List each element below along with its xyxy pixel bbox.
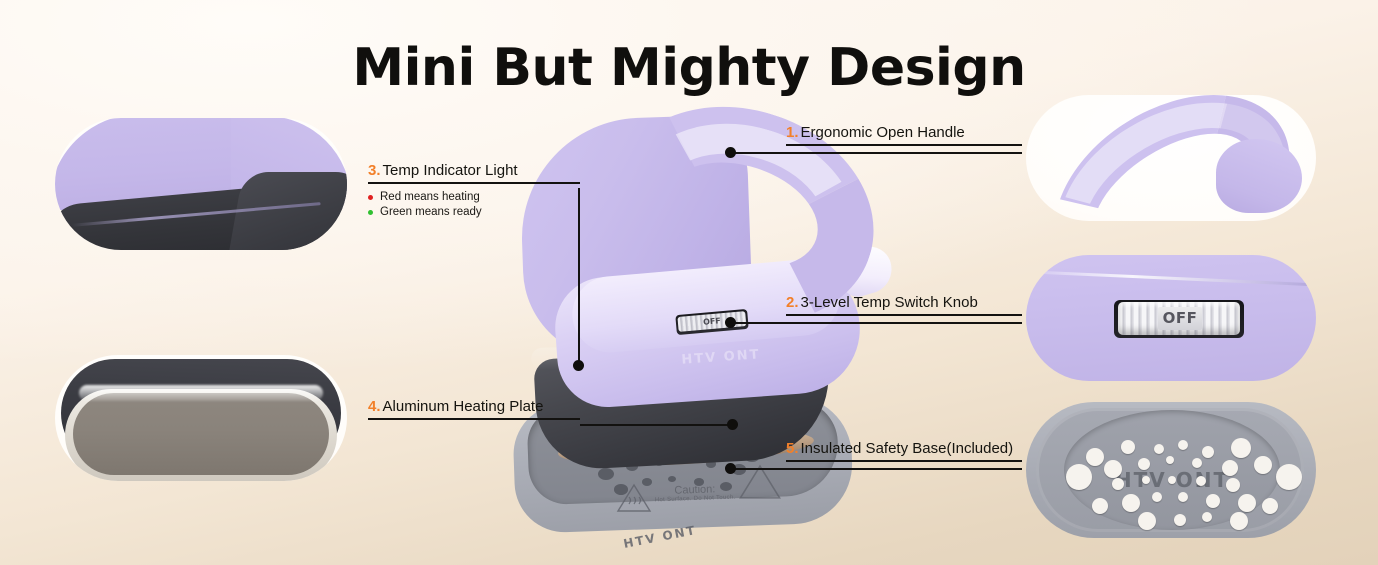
callout-4: 4.Aluminum Heating Plate bbox=[368, 398, 580, 420]
connector-line-2 bbox=[730, 322, 1022, 324]
callout-3-rule bbox=[368, 182, 580, 184]
base-vent-hole bbox=[1104, 460, 1122, 478]
callout-3-text: Temp Indicator Light bbox=[383, 162, 518, 179]
inset-safety-base: HTV ONT bbox=[1026, 402, 1316, 538]
base-vent-hole bbox=[1202, 512, 1212, 522]
red-indicator-dot bbox=[368, 195, 373, 200]
callout-4-number: 4. bbox=[368, 398, 381, 415]
callout-3-subitem-green: Green means ready bbox=[368, 205, 580, 220]
callout-3-number: 3. bbox=[368, 162, 381, 179]
base-vent-hole bbox=[1206, 494, 1220, 508]
callout-1-rule bbox=[786, 144, 1022, 146]
callout-2-text: 3-Level Temp Switch Knob bbox=[801, 294, 978, 311]
callout-2-rule bbox=[786, 314, 1022, 316]
connector-dot-1 bbox=[725, 147, 736, 158]
base-vent-hole bbox=[1138, 512, 1156, 530]
base-vent-hole bbox=[1138, 458, 1150, 470]
base-vent-hole bbox=[1152, 492, 1162, 502]
base-vent-hole bbox=[1226, 478, 1240, 492]
callout-1: 1.Ergonomic Open Handle bbox=[786, 124, 1022, 146]
inset-temp-indicator bbox=[55, 118, 347, 250]
callout-3: 3.Temp Indicator Light Red means heating… bbox=[368, 162, 580, 220]
callout-2: 2.3-Level Temp Switch Knob bbox=[786, 294, 1022, 316]
base-vent-hole bbox=[1121, 440, 1135, 454]
base-vent-hole bbox=[1178, 440, 1188, 450]
callout-4-rule bbox=[368, 418, 580, 420]
base-vent-hole bbox=[1174, 514, 1186, 526]
inset-open-handle bbox=[1026, 95, 1316, 221]
base-vent-hole bbox=[1066, 464, 1092, 490]
base-vent-hole bbox=[1230, 512, 1248, 530]
base-vent-hole bbox=[1192, 458, 1202, 468]
callout-3-label: 3.Temp Indicator Light bbox=[368, 162, 580, 182]
connector-dot-4 bbox=[727, 419, 738, 430]
plate-gloss bbox=[79, 385, 323, 401]
connector-dot-3 bbox=[573, 360, 584, 371]
base-vent-hole bbox=[1196, 476, 1206, 486]
base-vent-hole bbox=[1262, 498, 1278, 514]
base-vent-hole bbox=[1092, 498, 1108, 514]
base-vent-hole bbox=[1166, 456, 1174, 464]
base-vent-hole bbox=[1222, 460, 1238, 476]
infographic-canvas: Mini But Mighty Design OFF HTV ONT bbox=[0, 0, 1378, 565]
base-vent-hole bbox=[1202, 446, 1214, 458]
base-vent-hole bbox=[1122, 494, 1140, 512]
inset-temp-knob: OFF bbox=[1026, 255, 1316, 381]
callout-1-text: Ergonomic Open Handle bbox=[801, 124, 965, 141]
callout-3-sublist: Red means heating Green means ready bbox=[368, 190, 580, 220]
plate-face bbox=[73, 393, 329, 475]
base-vent-hole bbox=[1112, 478, 1124, 490]
base-vent-hole bbox=[1231, 438, 1251, 458]
callout-4-text: Aluminum Heating Plate bbox=[383, 398, 544, 415]
callout-5-number: 5. bbox=[786, 440, 799, 457]
connector-line-5 bbox=[730, 468, 1022, 470]
connector-line-4 bbox=[580, 424, 732, 426]
callout-3-subitem-green-text: Green means ready bbox=[380, 205, 482, 220]
callout-5: 5.Insulated Safety Base(Included) bbox=[786, 440, 1022, 462]
callout-3-subitem-red-text: Red means heating bbox=[380, 190, 480, 205]
product-base-vent-hole bbox=[598, 468, 614, 480]
connector-dot-2 bbox=[725, 317, 736, 328]
green-indicator-dot bbox=[368, 210, 373, 215]
base-vent-hole bbox=[1238, 494, 1256, 512]
knob-panel-seam bbox=[1030, 270, 1316, 286]
connector-line-1 bbox=[730, 152, 1022, 154]
callout-4-label: 4.Aluminum Heating Plate bbox=[368, 398, 580, 418]
callout-5-rule bbox=[786, 460, 1022, 462]
product-base-vent-hole bbox=[668, 476, 676, 482]
callout-2-label: 2.3-Level Temp Switch Knob bbox=[786, 294, 1022, 314]
base-vent-hole bbox=[1086, 448, 1104, 466]
page-title: Mini But Mighty Design bbox=[0, 38, 1378, 98]
knob-off-label: OFF bbox=[1158, 307, 1202, 330]
callout-1-label: 1.Ergonomic Open Handle bbox=[786, 124, 1022, 144]
callout-3-subitem-red: Red means heating bbox=[368, 190, 580, 205]
callout-2-number: 2. bbox=[786, 294, 799, 311]
base-vent-hole bbox=[1276, 464, 1302, 490]
callout-5-label: 5.Insulated Safety Base(Included) bbox=[786, 440, 1022, 460]
handle-tip bbox=[1216, 139, 1302, 213]
base-vent-hole bbox=[1168, 476, 1176, 484]
base-vent-hole bbox=[1178, 492, 1188, 502]
callout-5-text: Insulated Safety Base(Included) bbox=[801, 440, 1014, 457]
inset-heating-plate bbox=[55, 355, 347, 481]
base-vent-hole bbox=[1154, 444, 1164, 454]
base-vent-hole bbox=[1142, 476, 1150, 484]
base-vent-hole bbox=[1254, 456, 1272, 474]
connector-dot-5 bbox=[725, 463, 736, 474]
callout-1-number: 1. bbox=[786, 124, 799, 141]
